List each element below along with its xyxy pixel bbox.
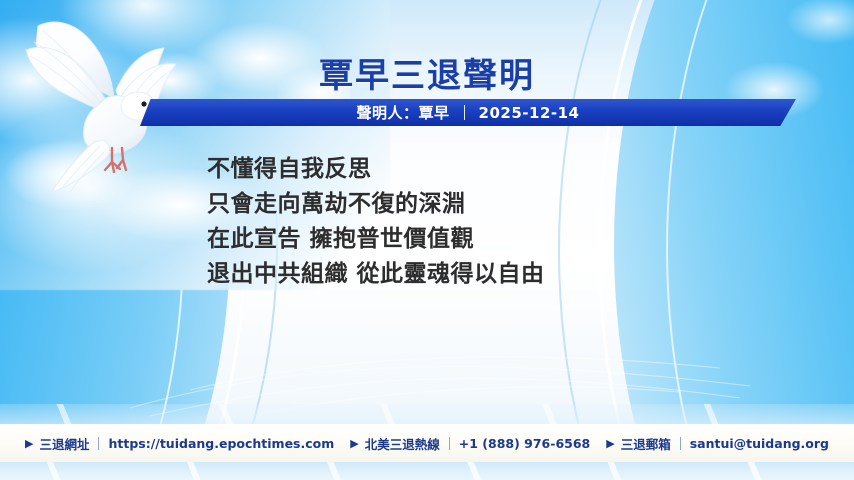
footer-top-texture: [0, 404, 854, 424]
statement-line: 在此宣告 擁抱普世價值觀: [207, 222, 807, 257]
declarant-label: 聲明人：覃早: [357, 102, 450, 123]
triangle-marker-icon: ▶: [350, 438, 358, 449]
footer-item-website[interactable]: ▶ 三退網址 https://tuidang.epochtimes.com: [25, 434, 334, 453]
statement-line: 退出中共組織 從此靈魂得以自由: [207, 257, 807, 292]
statement-line: 不懂得自我反思: [207, 152, 807, 187]
footer-divider: [98, 437, 99, 450]
triangle-marker-icon: ▶: [606, 438, 614, 449]
footer-value-hotline[interactable]: +1 (888) 976-6568: [459, 436, 590, 451]
triangle-marker-icon: ▶: [25, 438, 33, 449]
footer-label-email: 三退郵箱: [621, 434, 671, 453]
statement-body: 不懂得自我反思 只會走向萬劫不復的深淵 在此宣告 擁抱普世價值觀 退出中共組織 …: [207, 152, 807, 292]
footer-label-hotline: 北美三退熱線: [365, 434, 440, 453]
bottom-decorative-strip: [0, 462, 854, 480]
footer-contact-bar: ▶ 三退網址 https://tuidang.epochtimes.com ▶ …: [0, 424, 854, 462]
tuidang-statement-poster: 覃早三退聲明 聲明人：覃早 2025-12-14 不懂得自我反思 只會走向萬劫不…: [0, 0, 854, 480]
footer-value-email[interactable]: santui@tuidang.org: [690, 436, 829, 451]
footer-item-email[interactable]: ▶ 三退郵箱 santui@tuidang.org: [606, 434, 829, 453]
page-title: 覃早三退聲明: [0, 48, 854, 97]
footer-divider: [449, 437, 450, 450]
declarant-banner-text: 聲明人：覃早 2025-12-14: [140, 99, 796, 126]
footer-divider: [680, 437, 681, 450]
banner-divider: [464, 105, 465, 120]
statement-line: 只會走向萬劫不復的深淵: [207, 187, 807, 222]
footer-item-hotline[interactable]: ▶ 北美三退熱線 +1 (888) 976-6568: [350, 434, 590, 453]
declaration-date: 2025-12-14: [479, 104, 580, 122]
footer-value-website[interactable]: https://tuidang.epochtimes.com: [108, 436, 334, 451]
footer-label-website: 三退網址: [39, 434, 89, 453]
